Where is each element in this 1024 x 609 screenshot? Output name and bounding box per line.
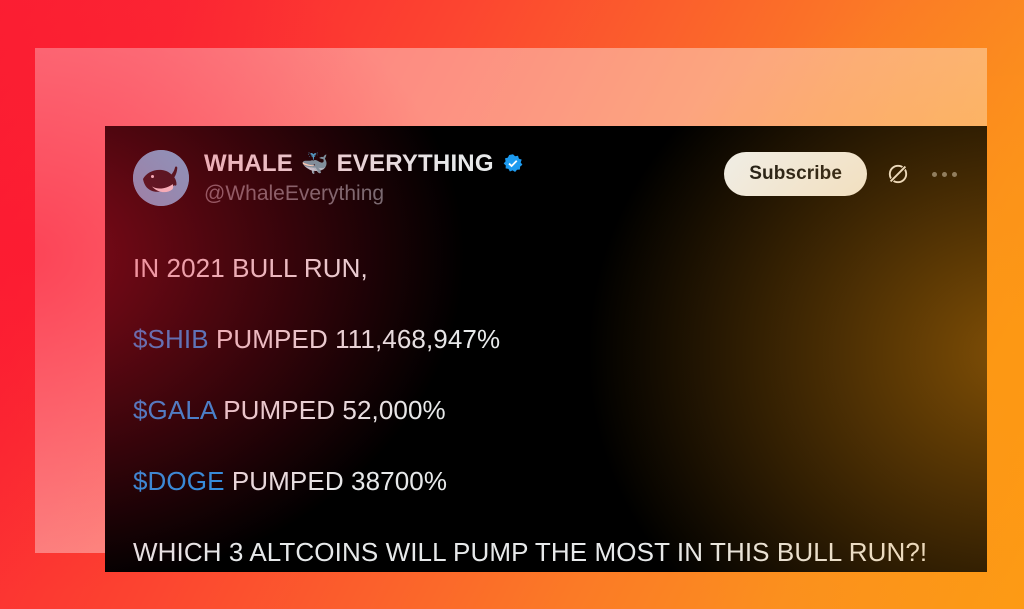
verified-badge-icon	[502, 153, 524, 175]
more-options-icon[interactable]	[929, 161, 959, 187]
tweet-line: $SHIB PUMPED 111,468,947%	[133, 323, 959, 355]
grok-icon[interactable]	[885, 161, 911, 187]
display-name-part-1: WHALE	[204, 150, 293, 178]
header-actions: Subscribe	[724, 152, 959, 196]
avatar[interactable]	[133, 150, 189, 206]
tweet-header: WHALE 🐳 EVERYTHING @WhaleEverything	[133, 148, 959, 226]
tweet-line-text: PUMPED 52,000%	[216, 395, 446, 425]
author-handle: @WhaleEverything	[204, 181, 524, 207]
whale-emoji-icon: 🐳	[301, 153, 329, 175]
tweet-line: $GALA PUMPED 52,000%	[133, 394, 959, 426]
tweet-line: IN 2021 BULL RUN,	[133, 252, 959, 284]
gradient-backdrop: WHALE 🐳 EVERYTHING @WhaleEverything	[0, 0, 1024, 609]
translucent-frame: WHALE 🐳 EVERYTHING @WhaleEverything	[35, 48, 987, 553]
display-name-part-2: EVERYTHING	[337, 150, 494, 178]
tweet-line: $DOGE PUMPED 38700%	[133, 465, 959, 497]
tweet-line-text: PUMPED 38700%	[225, 466, 448, 496]
subscribe-button[interactable]: Subscribe	[724, 152, 867, 196]
whale-avatar-icon	[133, 150, 189, 206]
tweet-text: IN 2021 BULL RUN, $SHIB PUMPED 111,468,9…	[133, 252, 959, 568]
tweet-line-text: PUMPED 111,468,947%	[209, 324, 501, 354]
tweet-line-text: WHICH 3 ALTCOINS WILL PUMP THE MOST IN T…	[133, 537, 927, 567]
tweet-card: WHALE 🐳 EVERYTHING @WhaleEverything	[105, 126, 987, 572]
author-identity: WHALE 🐳 EVERYTHING @WhaleEverything	[204, 148, 524, 207]
tweet-line: WHICH 3 ALTCOINS WILL PUMP THE MOST IN T…	[133, 536, 959, 568]
cashtag-link[interactable]: $GALA	[133, 395, 216, 425]
cashtag-link[interactable]: $SHIB	[133, 324, 209, 354]
display-name: WHALE 🐳 EVERYTHING	[204, 150, 524, 178]
cashtag-link[interactable]: $DOGE	[133, 466, 225, 496]
tweet-line-text: IN 2021 BULL RUN,	[133, 253, 368, 283]
